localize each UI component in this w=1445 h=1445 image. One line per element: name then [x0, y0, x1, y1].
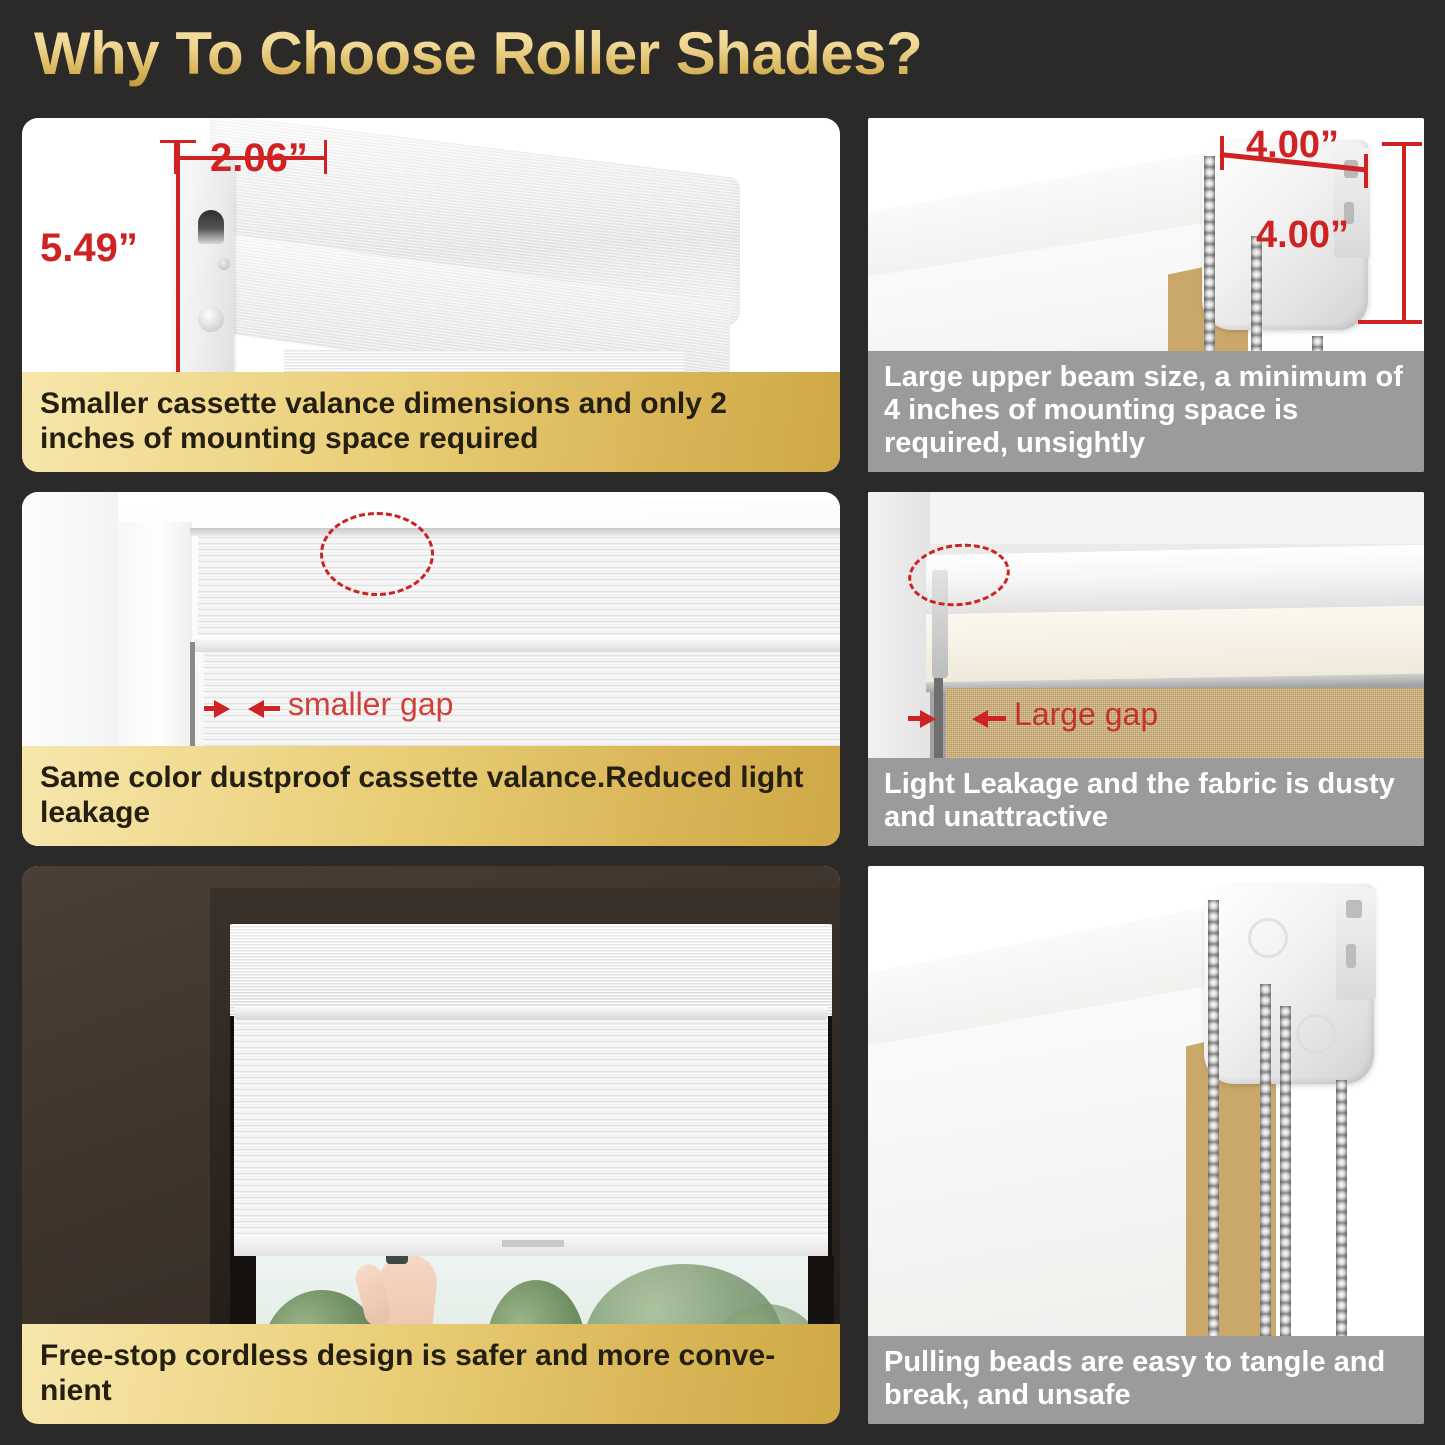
- bead-chain-middle: [1260, 984, 1271, 1340]
- gap-arrow-left-icon: [972, 710, 988, 728]
- panel-light-leakage: Large gap Light Leakage and the fabric i…: [868, 492, 1424, 846]
- panel-dustproof-valance: smaller gap Same color dustproof cassett…: [22, 492, 840, 846]
- ceiling-band: [868, 492, 1424, 544]
- comparison-grid: 2.06” 5.49” Smaller cassette valance dim…: [0, 0, 1445, 1445]
- panel-caption: Smaller cassette valance dimensions and …: [22, 372, 840, 472]
- panel-cassette-dimensions: 2.06” 5.49” Smaller cassette valance dim…: [22, 118, 840, 472]
- gap-arrow-right-stem: [204, 706, 218, 711]
- headrail-lip: [234, 1006, 828, 1020]
- endcap-emblem-icon: [1248, 918, 1288, 958]
- bracket-screw-icon: [198, 306, 224, 332]
- panel-caption: Light Leakage and the fabric is dusty an…: [868, 758, 1424, 846]
- dim-beam-height-line: [1402, 142, 1406, 324]
- dim-beam-height-label: 4.00”: [1256, 214, 1349, 257]
- panel-caption: Large upper beam size, a minimum of 4 in…: [868, 351, 1424, 472]
- dim-width-label: 2.06”: [210, 136, 308, 181]
- valance-top-edge: [190, 528, 840, 536]
- panel-caption: Same color dustproof cassette valance.Re…: [22, 746, 840, 846]
- bracket-screw-small-icon: [218, 258, 230, 270]
- panel-caption: Free-stop cordless design is safer and m…: [22, 1324, 840, 1424]
- bead-chain-left: [1208, 900, 1219, 1340]
- dim-beam-height-tick-bottom: [1358, 320, 1422, 324]
- highlight-circle-icon: [320, 512, 434, 596]
- dim-height-label: 5.49”: [40, 226, 138, 271]
- gap-arrow-right-stem: [908, 716, 924, 721]
- bead-chain-middle2: [1280, 1006, 1291, 1340]
- mounting-slot2-icon: [1346, 944, 1356, 968]
- gap-callout-label: smaller gap: [288, 686, 453, 723]
- brand-logo: [502, 1240, 564, 1247]
- bead-chain-right: [1336, 1080, 1347, 1340]
- roller-shade-fabric: [234, 1016, 828, 1236]
- valance-lip: [194, 636, 840, 652]
- dim-beam-width-label: 4.00”: [1246, 124, 1339, 167]
- mounting-slot-icon: [1346, 900, 1362, 918]
- endcap-emblem2-icon: [1296, 1014, 1336, 1054]
- panel-large-upper-beam: 4.00” 4.00” Large upper beam size, a min…: [868, 118, 1424, 472]
- panel-pulling-beads: Pulling beads are easy to tangle and bre…: [868, 866, 1424, 1424]
- dim-height-line: [176, 140, 180, 376]
- panel-caption: Pulling beads are easy to tangle and bre…: [868, 1336, 1424, 1424]
- bracket-slot-icon: [198, 210, 224, 244]
- panel-cordless-design: Free-stop cordless design is safer and m…: [22, 866, 840, 1424]
- gap-callout-label: Large gap: [1014, 696, 1158, 733]
- valance-fabric-band: [198, 536, 840, 636]
- gap-arrow-left-stem: [262, 706, 280, 711]
- cassette-headrail: [230, 924, 832, 1016]
- gap-arrow-left-stem: [988, 716, 1006, 721]
